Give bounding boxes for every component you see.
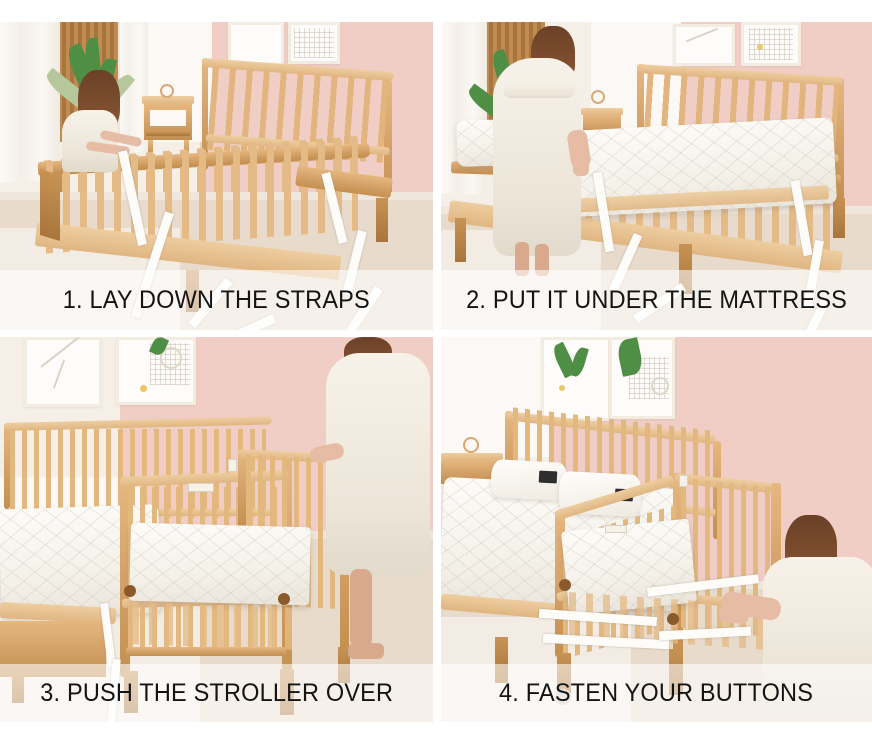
photo-step-1	[0, 22, 433, 330]
step-panel-3: 3. PUSH THE STROLLER OVER	[0, 337, 433, 722]
photo-step-4	[441, 337, 872, 722]
photo-step-3	[0, 337, 433, 722]
step-panel-2: 2. PUT IT UNDER THE MATTRESS	[441, 22, 872, 330]
photo-step-2	[441, 22, 872, 330]
step-panel-4: 4. FASTEN YOUR BUTTONS	[441, 337, 872, 722]
instruction-grid: 1. LAY DOWN THE STRAPS	[0, 0, 872, 730]
step-panel-1: 1. LAY DOWN THE STRAPS	[0, 22, 433, 330]
